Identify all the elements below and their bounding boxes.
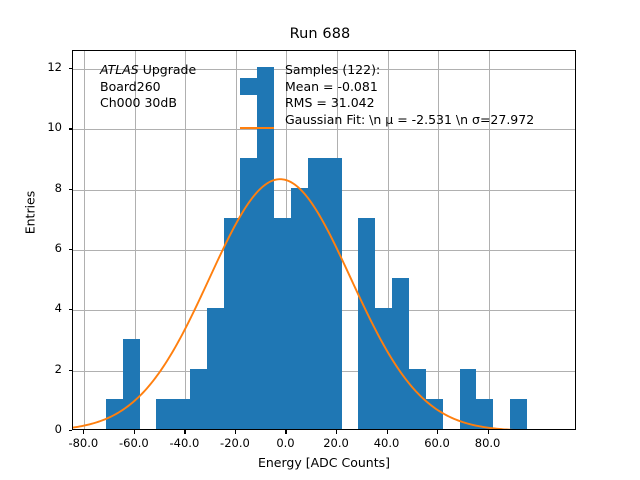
legend: Samples (122): Mean = -0.081 RMS = 31.04… [285,62,534,128]
x-tick-mark-3 [235,430,236,434]
y-tick-mark-0 [69,430,73,431]
legend-swatch-gaussian-fit [240,127,274,129]
x-tick-label: 80.0 [458,436,518,450]
x-tick-mark-0 [83,430,84,434]
x-tick-mark-4 [285,430,286,434]
y-tick-label: 12 [22,60,62,74]
y-tick-mark-4 [69,189,73,190]
y-tick-mark-2 [69,309,73,310]
x-tick-mark-2 [184,430,185,434]
y-tick-label: 10 [22,120,62,134]
y-tick-label: 4 [22,301,62,315]
x-tick-mark-6 [387,430,388,434]
annotation-board: Board260 [100,79,196,96]
annotation-experiment-line: ATLAS Upgrade [100,62,196,79]
x-tick-mark-7 [437,430,438,434]
x-tick-mark-5 [336,430,337,434]
y-tick-mark-1 [69,370,73,371]
page-title: Run 688 [0,26,640,42]
experiment-name: ATLAS [100,62,139,77]
legend-item-gaussian-fit: Gaussian Fit: \n μ = -2.531 \n σ=27.972 [285,112,534,129]
legend-item-samples-line-2: Mean = -0.081 [285,79,534,96]
legend-item-samples-line-1: Samples (122): [285,62,534,79]
y-tick-mark-5 [69,128,73,129]
legend-swatch-histogram [240,78,274,95]
y-tick-mark-6 [69,68,73,69]
y-tick-label: 2 [22,362,62,376]
x-tick-mark-1 [134,430,135,434]
y-tick-mark-3 [69,249,73,250]
y-tick-label: 0 [22,422,62,436]
y-axis-label: Entries [23,153,38,273]
annotation-channel-gain: Ch000 30dB [100,95,196,112]
annotation-block: ATLAS Upgrade Board260 Ch000 30dB [100,62,196,112]
matplotlib-figure: Run 688 -80.0-60.0-40.0-20.00.020.040.06… [0,0,640,480]
x-axis-label: Energy [ADC Counts] [72,455,576,470]
legend-item-samples-line-3: RMS = 31.042 [285,95,534,112]
gaussian-fit-path [73,179,576,430]
experiment-suffix: Upgrade [139,62,196,77]
x-tick-mark-8 [488,430,489,434]
